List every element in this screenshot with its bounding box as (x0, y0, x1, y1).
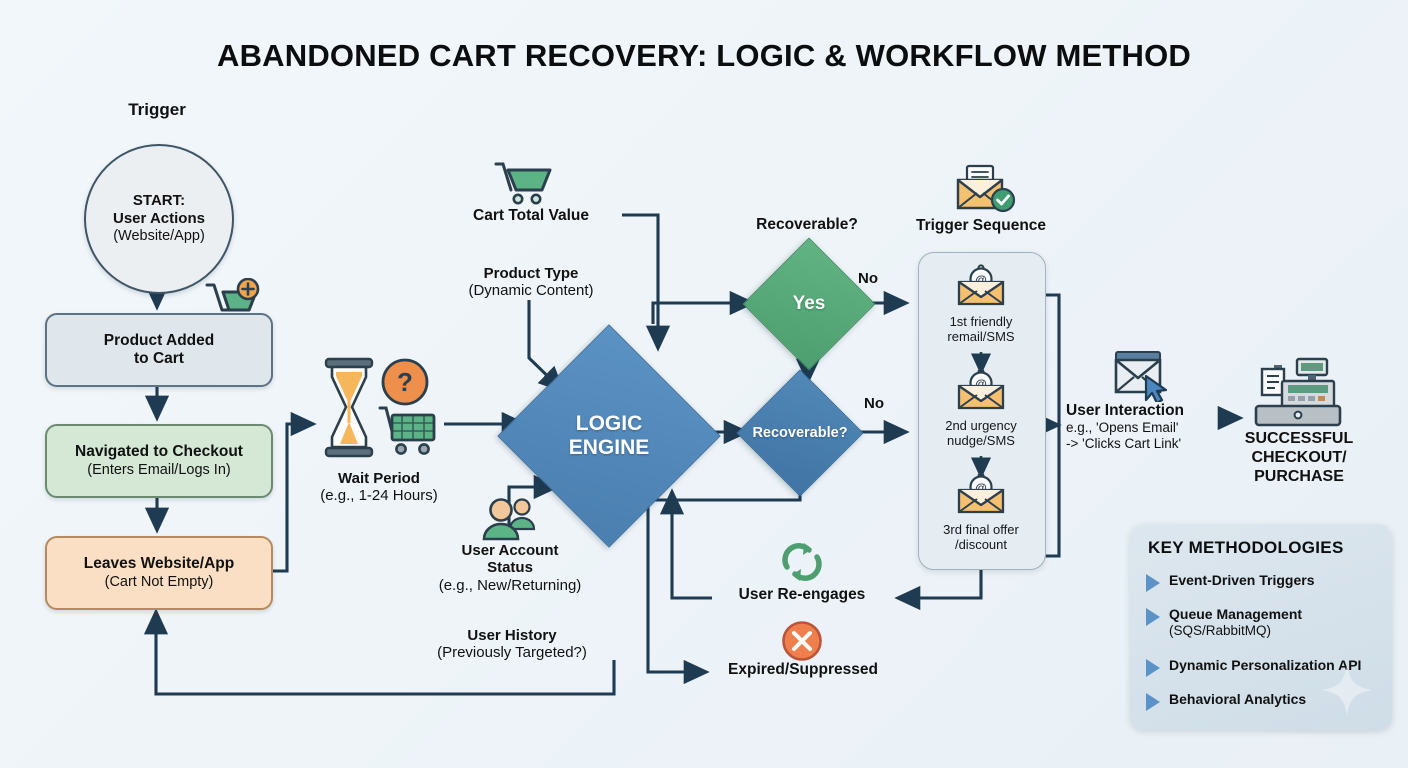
sequence-step-2[interactable]: @ 2nd urgency nudge/SMS (918, 368, 1044, 449)
logic-line2: ENGINE (569, 436, 650, 459)
email-cursor-icon (1110, 350, 1176, 407)
wait-cart-icon (378, 404, 440, 463)
success-line1: SUCCESSFUL (1226, 429, 1372, 448)
triangle-bullet-icon (1146, 574, 1160, 592)
outcome-expired-suppressed: Expired/Suppressed (710, 661, 896, 679)
email-at-icon: @ (918, 264, 1044, 312)
users-icon (480, 497, 540, 546)
input-user-account-status: User Account Status (e.g., New/Returning… (415, 542, 605, 594)
legend-item-3-label: Behavioral Analytics (1169, 691, 1306, 708)
sequence-step-1-line2: remail/SMS (947, 329, 1014, 344)
legend-item-1-sub: (SQS/RabbitMQ) (1169, 623, 1302, 639)
decision-recoverable-diamond[interactable]: Recoverable? (736, 369, 863, 496)
yes-diamond-label: Yes (793, 293, 826, 315)
box-checkout-sub: (Enters Email/Logs In) (87, 462, 230, 479)
box-leaves-title: Leaves Website/App (84, 555, 234, 573)
diagram-canvas: ABANDONED CART RECOVERY: LOGIC & WORKFLO… (0, 0, 1408, 768)
start-line3: (Website/App) (113, 228, 205, 245)
node-navigated-to-checkout[interactable]: Navigated to Checkout (Enters Email/Logs… (45, 424, 273, 498)
logic-line1: LOGIC (576, 412, 643, 435)
box-checkout-title: Navigated to Checkout (75, 443, 243, 461)
success-line3: PURCHASE (1226, 467, 1372, 486)
email-check-icon (954, 164, 1016, 219)
sequence-step-3[interactable]: @ 3rd final offer /discount (918, 472, 1044, 553)
start-line2: User Actions (113, 210, 205, 228)
edge-label-no-bottom: No (864, 395, 884, 412)
shopping-cart-icon (494, 160, 552, 211)
sequence-step-3-line1: 3rd final offer (943, 522, 1019, 537)
trigger-section-label: Trigger (85, 100, 229, 120)
triangle-bullet-icon (1146, 608, 1160, 626)
node-leaves-website-app[interactable]: Leaves Website/App (Cart Not Empty) (45, 536, 273, 610)
sequence-step-1-line1: 1st friendly (950, 314, 1013, 329)
page-title: ABANDONED CART RECOVERY: LOGIC & WORKFLO… (0, 38, 1408, 74)
user-account-title2: Status (415, 559, 605, 576)
svg-text:?: ? (397, 367, 413, 397)
wait-title: Wait Period (288, 470, 470, 487)
cash-register-icon (1244, 357, 1352, 432)
outcome-successful-checkout: SUCCESSFUL CHECKOUT/ PURCHASE (1226, 429, 1372, 487)
recoverable-diamond-label: Recoverable? (752, 425, 847, 441)
legend-item-0-label: Event-Driven Triggers (1169, 572, 1315, 589)
user-history-sub: (Previously Targeted?) (412, 644, 612, 661)
sequence-step-2-line2: nudge/SMS (947, 433, 1015, 448)
start-line1: START: (133, 192, 185, 210)
wait-sub: (e.g., 1-24 Hours) (288, 487, 470, 504)
user-account-title: User Account (415, 542, 605, 559)
outcome-user-interaction: User Interaction e.g., 'Opens Email' -> … (1066, 402, 1232, 451)
email-at-icon: @ (918, 472, 1044, 520)
box-added-line1: Product Added (104, 332, 215, 350)
triangle-bullet-icon (1146, 693, 1160, 711)
box-leaves-sub: (Cart Not Empty) (105, 574, 214, 591)
node-product-added-to-cart[interactable]: Product Added to Cart (45, 313, 273, 387)
legend-title: KEY METHODOLOGIES (1148, 538, 1344, 558)
success-line2: CHECKOUT/ (1226, 448, 1372, 467)
outcome-user-re-engages: User Re-engages (718, 586, 886, 604)
box-added-line2: to Cart (134, 350, 184, 368)
product-type-title: Product Type (436, 265, 626, 282)
triangle-bullet-icon (1146, 659, 1160, 677)
legend-item-0[interactable]: Event-Driven Triggers (1146, 572, 1386, 592)
user-history-title: User History (412, 627, 612, 644)
sparkle-icon (1320, 663, 1374, 722)
input-user-history: User History (Previously Targeted?) (412, 627, 612, 662)
trigger-sequence-label: Trigger Sequence (900, 217, 1062, 235)
user-account-sub: (e.g., New/Returning) (415, 577, 605, 594)
legend-item-1-label: Queue Management (1169, 606, 1302, 623)
user-interaction-sub1: e.g., 'Opens Email' (1066, 420, 1232, 436)
node-start-user-actions[interactable]: START: User Actions (Website/App) (84, 144, 234, 294)
legend-item-1[interactable]: Queue Management (SQS/RabbitMQ) (1146, 606, 1386, 638)
sequence-step-1[interactable]: @ 1st friendly remail/SMS (918, 264, 1044, 345)
decision-recoverable-label: Recoverable? (716, 216, 898, 234)
email-at-icon: @ (918, 368, 1044, 416)
edge-label-no-top: No (858, 270, 878, 287)
input-cart-total-value: Cart Total Value (440, 207, 622, 225)
user-interaction-title: User Interaction (1066, 402, 1232, 420)
wait-period-label: Wait Period (e.g., 1-24 Hours) (288, 470, 470, 505)
sequence-step-2-line1: 2nd urgency (945, 418, 1017, 433)
user-interaction-sub2: -> 'Clicks Cart Link' (1066, 436, 1232, 452)
product-type-sub: (Dynamic Content) (436, 282, 626, 299)
legend-key-methodologies: KEY METHODOLOGIES Event-Driven Triggers … (1130, 524, 1392, 730)
decision-yes-diamond[interactable]: Yes (743, 238, 876, 371)
input-product-type: Product Type (Dynamic Content) (436, 265, 626, 300)
x-circle-icon (781, 620, 823, 667)
sequence-step-3-line2: /discount (955, 537, 1007, 552)
recycle-icon (777, 541, 827, 588)
